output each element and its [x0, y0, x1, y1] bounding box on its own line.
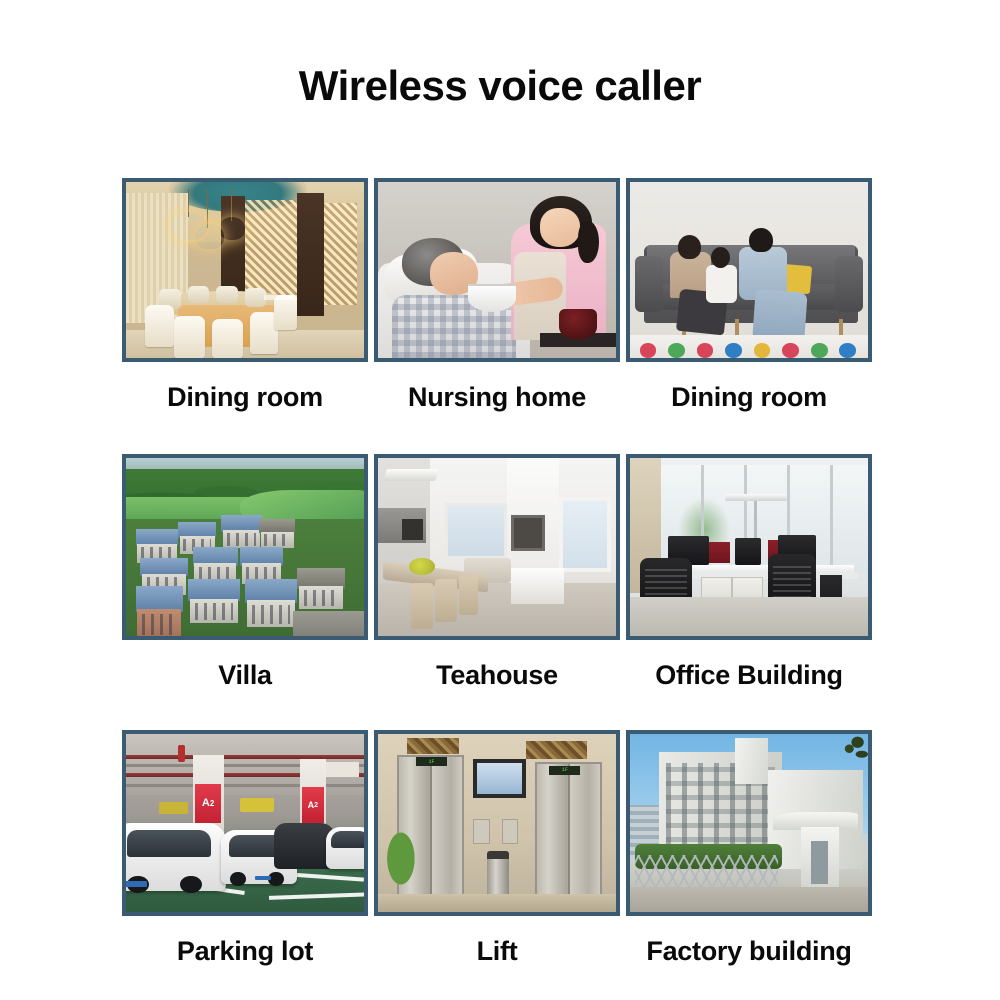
gallery-row-1: Dining room: [122, 178, 878, 411]
gallery-caption: Nursing home: [374, 362, 620, 411]
gallery-row-2: Villa: [122, 454, 878, 689]
gallery-caption: Teahouse: [374, 640, 620, 689]
scene-gallery-grid: Dining room: [122, 178, 878, 965]
gallery-item-factory-building[interactable]: Factory building: [626, 730, 878, 965]
gallery-item-villa[interactable]: Villa: [122, 454, 374, 689]
lobby-display-screen: [473, 759, 525, 798]
image-frame: [626, 178, 872, 362]
gallery-item-office-building[interactable]: Office Building: [626, 454, 878, 689]
photo-elevator-lobby: 1F 1F: [378, 734, 616, 912]
elevator-indicator-left-text: 1F: [429, 759, 435, 765]
parking-sign-number: 2: [210, 799, 214, 808]
photo-family-living-room: [630, 182, 868, 358]
photo-villa-aerial: [126, 458, 364, 636]
parking-sign-number-2: 2: [314, 802, 318, 809]
gallery-item-dining-room-1[interactable]: Dining room: [122, 178, 374, 411]
gallery-caption: Dining room: [626, 362, 872, 411]
page-title: Wireless voice caller: [0, 62, 1000, 110]
elevator-door-right: [535, 762, 602, 897]
elevator-indicator-right-text: 1F: [562, 767, 568, 773]
parking-zone-sign-a2-secondary: A2: [302, 787, 323, 823]
product-feature-poster: Wireless voice caller: [0, 0, 1000, 1000]
image-frame: [122, 454, 368, 640]
image-frame: 1F 1F: [374, 730, 620, 916]
image-frame: [626, 454, 872, 640]
elevator-indicator-right: 1F: [549, 766, 580, 775]
gallery-item-teahouse[interactable]: Teahouse: [374, 454, 626, 689]
elevator-indicator-left: 1F: [416, 757, 447, 766]
gallery-caption: Office Building: [626, 640, 872, 689]
image-frame: A2 A2: [122, 730, 368, 916]
potted-plant: [380, 819, 418, 897]
photo-teahouse-interior: [378, 458, 616, 636]
image-frame: [374, 178, 620, 362]
gallery-caption: Factory building: [626, 916, 872, 965]
gallery-caption: Lift: [374, 916, 620, 965]
parking-zone-sign-a2: A2: [195, 784, 221, 823]
gallery-item-dining-room-2[interactable]: Dining room: [626, 178, 878, 411]
gallery-caption: Parking lot: [122, 916, 368, 965]
gallery-caption: Villa: [122, 640, 368, 689]
photo-office-interior: [630, 458, 868, 636]
gallery-row-3: A2 A2: [122, 730, 878, 965]
photo-parking-garage: A2 A2: [126, 734, 364, 912]
parking-sign-letter: A: [202, 797, 210, 809]
gallery-item-nursing-home[interactable]: Nursing home: [374, 178, 626, 411]
image-frame: [374, 454, 620, 640]
image-frame: [626, 730, 872, 916]
gallery-caption: Dining room: [122, 362, 368, 411]
photo-dining-room: [126, 182, 364, 358]
gallery-item-parking-lot[interactable]: A2 A2: [122, 730, 374, 965]
photo-factory-building: [630, 734, 868, 912]
photo-nursing-home: [378, 182, 616, 358]
gallery-item-lift[interactable]: 1F 1F Lift: [374, 730, 626, 965]
image-frame: [122, 178, 368, 362]
tree-branch: [816, 734, 868, 780]
